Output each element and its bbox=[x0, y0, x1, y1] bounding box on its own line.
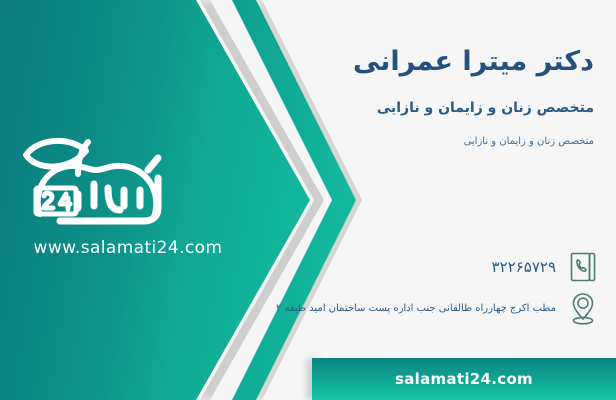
page-title: دکتر میترا عمرانی bbox=[353, 46, 594, 77]
address-row[interactable]: مطب اکرج چهارراه طالقانی جنب اداره پست س… bbox=[276, 292, 598, 326]
specialty-sub-label: متخصص زنان و زایمان و نازایی bbox=[464, 136, 594, 147]
apple-logo-icon bbox=[8, 118, 248, 246]
footer-website-text: salamati24.com bbox=[395, 370, 533, 388]
address-text: مطب اکرج چهارراه طالقانی جنب اداره پست س… bbox=[276, 302, 556, 317]
phone-row[interactable]: ۳۲۲۶۵۷۲۹ bbox=[492, 250, 598, 284]
business-card: www.salamati24.com دکتر میترا عمرانی متخ… bbox=[0, 0, 616, 400]
logo-website-url[interactable]: www.salamati24.com bbox=[8, 238, 248, 258]
phone-book-icon bbox=[568, 250, 598, 284]
footer-bar[interactable]: salamati24.com bbox=[312, 358, 616, 400]
specialty-label: متخصص زنان و زایمان و نازایی bbox=[377, 100, 594, 116]
map-pin-icon bbox=[568, 292, 598, 326]
brand-logo: www.salamati24.com bbox=[8, 118, 248, 278]
phone-number-text: ۳۲۲۶۵۷۲۹ bbox=[492, 258, 556, 276]
